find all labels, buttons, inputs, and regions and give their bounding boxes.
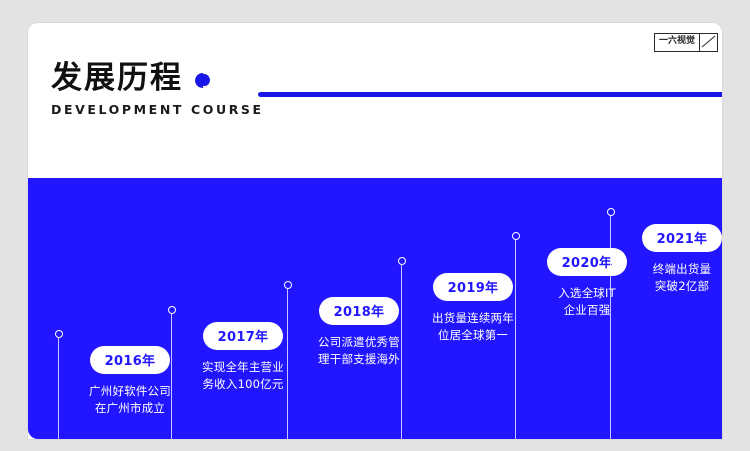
milestone-card[interactable]: 2017年实现全年主营业务收入100亿元: [183, 322, 303, 392]
timeline-marker-dot[interactable]: [512, 232, 520, 240]
milestone-description-line: 在广州市成立: [70, 400, 190, 417]
title-chinese: 发展历程: [51, 62, 183, 95]
half-circle-dot-icon: [195, 73, 210, 88]
slide-header: 一六视觉 发展历程 DEVELOPMENT COURSE: [28, 23, 722, 178]
milestone-card[interactable]: 2016年广州好软件公司在广州市成立: [70, 346, 190, 416]
timeline-marker-dot[interactable]: [398, 257, 406, 265]
title-english: DEVELOPMENT COURSE: [51, 102, 264, 117]
milestone-description: 实现全年主营业务收入100亿元: [183, 359, 303, 392]
milestone-description-line: 企业百强: [527, 302, 647, 319]
milestone-description: 广州好软件公司在广州市成立: [70, 383, 190, 416]
milestone-year-pill: 2018年: [319, 297, 400, 325]
milestone-year-pill: 2021年: [642, 224, 722, 252]
milestone-description: 终端出货量突破2亿部: [622, 261, 722, 294]
header-accent-rule: [258, 92, 722, 97]
timeline-stem-line: [401, 261, 402, 439]
milestone-description-line: 突破2亿部: [622, 278, 722, 295]
timeline-marker-dot[interactable]: [168, 306, 176, 314]
diagonal-slash-icon: [699, 34, 717, 51]
timeline-marker-dot[interactable]: [607, 208, 615, 216]
brand-badge-label: 一六视觉: [655, 34, 699, 51]
timeline-stem-line: [287, 285, 288, 439]
milestone-card[interactable]: 2021年终端出货量突破2亿部: [622, 224, 722, 294]
title-row: 发展历程: [51, 62, 264, 95]
milestone-year-pill: 2019年: [433, 273, 514, 301]
milestone-description-line: 实现全年主营业: [183, 359, 303, 376]
slide-canvas: 一六视觉 发展历程 DEVELOPMENT COURSE 2016年广州好软件公…: [28, 23, 722, 439]
timeline-stem-line: [58, 334, 59, 439]
brand-badge: 一六视觉: [654, 33, 718, 52]
timeline-stem-line: [515, 236, 516, 439]
timeline-stem-line: [171, 310, 172, 439]
milestone-year-pill: 2016年: [90, 346, 171, 374]
page-title: 发展历程 DEVELOPMENT COURSE: [51, 62, 264, 117]
timeline-panel: 2016年广州好软件公司在广州市成立2017年实现全年主营业务收入100亿元20…: [28, 178, 722, 439]
timeline-marker-dot[interactable]: [284, 281, 292, 289]
milestone-description-line: 务收入100亿元: [183, 376, 303, 393]
milestone-description-line: 终端出货量: [622, 261, 722, 278]
timeline-marker-dot[interactable]: [55, 330, 63, 338]
milestone-year-pill: 2017年: [203, 322, 284, 350]
timeline-stem-line: [610, 212, 611, 439]
milestone-year-pill: 2020年: [547, 248, 628, 276]
milestone-description-line: 广州好软件公司: [70, 383, 190, 400]
